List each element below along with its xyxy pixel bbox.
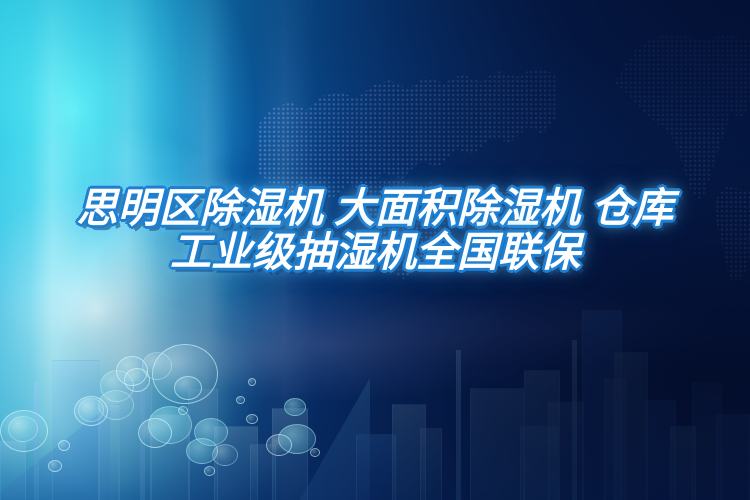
bubble [8, 416, 38, 442]
bubble [246, 414, 258, 424]
bubble [236, 396, 245, 404]
bubble [48, 460, 62, 472]
page-title: 思明区除湿机 大面积除湿机 仓库工业级抽湿机全国联保 [60, 186, 690, 274]
bubble [138, 418, 172, 448]
banner-image: 思明区除湿机 大面积除湿机 仓库工业级抽湿机全国联保 [0, 0, 750, 500]
bubble [174, 376, 202, 400]
bubble [178, 406, 188, 415]
bubble [310, 448, 320, 457]
bubble [78, 398, 104, 422]
bubble [204, 466, 215, 476]
bubble [58, 440, 70, 451]
bubble [212, 444, 238, 466]
bubble [248, 378, 256, 386]
bubble [284, 398, 306, 416]
bubble [266, 434, 292, 456]
